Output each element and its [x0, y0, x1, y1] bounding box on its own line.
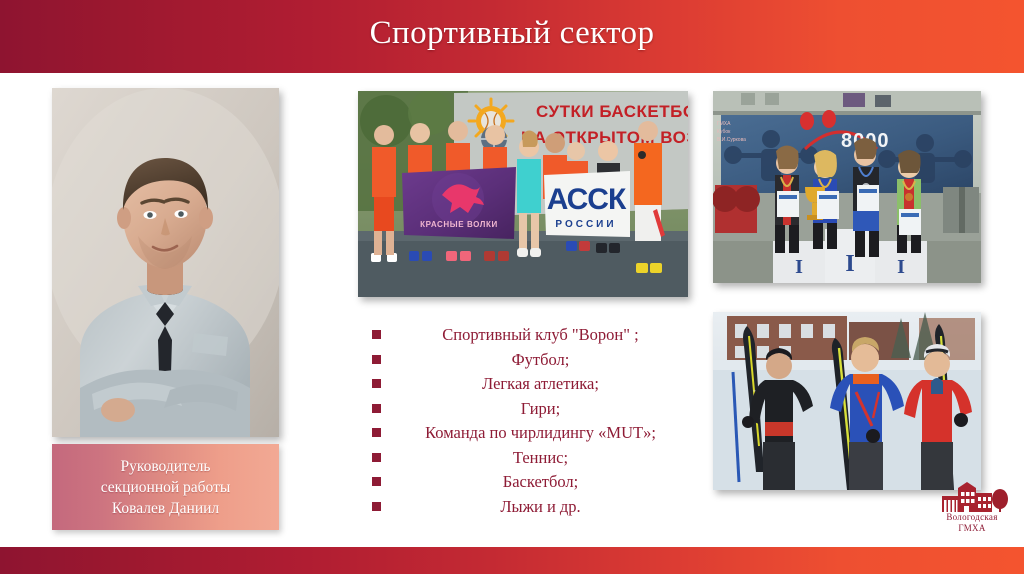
list-item-label: Легкая атлетика;: [391, 372, 690, 396]
skiing-illustration: FISCHER: [713, 312, 981, 490]
list-item: Гири;: [372, 397, 690, 422]
svg-text:АССК: АССК: [547, 183, 627, 216]
basketball-illustration: СУТКИ БАСКЕТБОЛА НА ОТКРЫТОМ ВОЗДУХЕ: [358, 91, 688, 297]
svg-text:СУТКИ БАСКЕТБОЛА: СУТКИ БАСКЕТБОЛА: [536, 102, 688, 121]
footer-band: [0, 547, 1024, 574]
bullet-square-icon: [372, 477, 381, 486]
svg-text:I: I: [795, 256, 803, 278]
weightlifting-podium-photo: 8000 ГМХА Кубок В.И.Суркова I I I: [713, 91, 981, 283]
list-item: Команда по чирлидингу «MUT»;: [372, 421, 690, 446]
svg-text:I: I: [897, 256, 905, 278]
list-item: Баскетбол;: [372, 470, 690, 495]
svg-text:КРАСНЫЕ ВОЛКИ: КРАСНЫЕ ВОЛКИ: [420, 220, 498, 229]
bullet-square-icon: [372, 330, 381, 339]
list-item-label: Футбол;: [391, 348, 690, 372]
svg-text:РОССИИ: РОССИИ: [555, 219, 616, 230]
list-item: Футбол;: [372, 348, 690, 373]
caption-line-subrole: секционной работы: [101, 477, 231, 498]
skiing-team-photo: FISCHER: [713, 312, 981, 490]
svg-text:В.И.Суркова: В.И.Суркова: [717, 137, 746, 143]
bullet-square-icon: [372, 355, 381, 364]
list-item-label: Команда по чирлидингу «MUT»;: [391, 421, 690, 445]
caption-line-name: Ковалев Даниил: [112, 498, 219, 519]
caption-box: Руководитель секционной работы Ковалев Д…: [52, 444, 279, 530]
list-item: Теннис;: [372, 446, 690, 471]
list-item-label: Лыжи и др.: [391, 495, 690, 519]
basketball-team-photo: СУТКИ БАСКЕТБОЛА НА ОТКРЫТОМ ВОЗДУХЕ: [358, 91, 688, 297]
list-item-label: Гири;: [391, 397, 690, 421]
svg-text:I: I: [845, 251, 854, 277]
caption-line-role: Руководитель: [120, 456, 210, 477]
svg-text:ГМХА: ГМХА: [717, 121, 731, 127]
page-title: Спортивный сектор: [0, 11, 1024, 55]
building-icon: [930, 482, 1014, 512]
list-item: Лыжи и др.: [372, 495, 690, 520]
list-item: Спортивный клуб "Ворон" ;: [372, 323, 690, 348]
logo-text-line1: Вологодская: [930, 512, 1014, 523]
bullet-square-icon: [372, 379, 381, 388]
organization-logo: Вологодская ГМХА: [930, 482, 1014, 544]
portrait-photo: [52, 88, 279, 437]
weightlifting-illustration: 8000 ГМХА Кубок В.И.Суркова I I I: [713, 91, 981, 283]
bullet-square-icon: [372, 502, 381, 511]
bullet-square-icon: [372, 404, 381, 413]
bullet-square-icon: [372, 428, 381, 437]
svg-text:Кубок: Кубок: [717, 129, 731, 135]
bullet-square-icon: [372, 453, 381, 462]
list-item-label: Спортивный клуб "Ворон" ;: [391, 323, 690, 347]
list-item-label: Теннис;: [391, 446, 690, 470]
list-item-label: Баскетбол;: [391, 470, 690, 494]
list-item: Легкая атлетика;: [372, 372, 690, 397]
logo-text-line2: ГМХА: [930, 523, 1014, 534]
portrait-illustration: [52, 88, 279, 437]
activities-list: Спортивный клуб "Ворон" ; Футбол; Легкая…: [372, 323, 690, 519]
